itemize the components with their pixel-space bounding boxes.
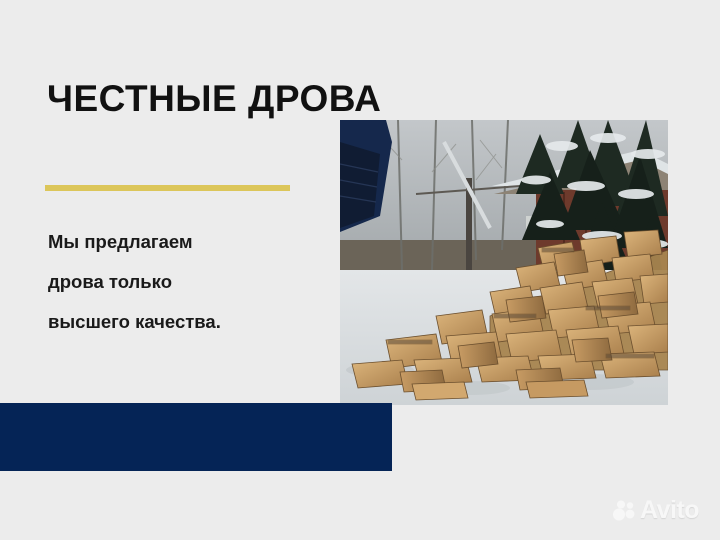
avito-watermark: Avito <box>612 498 699 523</box>
firewood-photo <box>340 120 668 405</box>
body-line-1: Мы предлагаем <box>48 222 298 262</box>
body-line-3: высшего качества. <box>48 302 298 342</box>
firewood-photo-illustration <box>340 120 668 405</box>
page-title: ЧЕСТНЫЕ ДРОВА <box>47 78 381 120</box>
avito-dots-icon <box>612 499 636 523</box>
avito-watermark-label: Avito <box>640 498 699 523</box>
accent-divider <box>45 185 290 191</box>
body-paragraph: Мы предлагаем дрова только высшего качес… <box>48 222 298 342</box>
footer-banner <box>0 403 392 471</box>
body-line-2: дрова только <box>48 262 298 302</box>
slide-canvas: ЧЕСТНЫЕ ДРОВА Мы предлагаем дрова только… <box>0 0 720 540</box>
